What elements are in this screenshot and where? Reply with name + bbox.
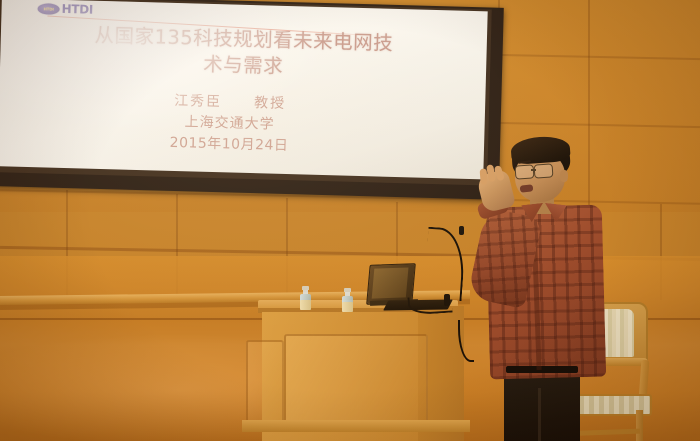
slide-subtitle-block: 江秀臣 教授 上海交通大学 2015年10月24日 — [14, 87, 446, 162]
presentation-photo: HTDI HTDI 从国家135科技规划看未来电网技 术与需求 江秀臣 教授 上… — [0, 0, 700, 441]
slide-content: HTDI HTDI 从国家135科技规划看未来电网技 术与需求 江秀臣 教授 上… — [0, 0, 488, 179]
eyeglasses-bridge — [531, 169, 536, 171]
presenter-mouth — [520, 184, 534, 192]
htdi-wordmark: HTDI — [61, 2, 93, 17]
presenter-leg-seam — [538, 388, 541, 441]
microphone-gooseneck — [424, 227, 467, 301]
presenter-ear — [560, 170, 568, 182]
presenter — [482, 138, 612, 441]
lectern-equipment — [258, 300, 468, 360]
projection-screen: HTDI HTDI 从国家135科技规划看未来电网技 术与需求 江秀臣 教授 上… — [0, 0, 510, 208]
htdi-oval-text: HTDI — [44, 6, 54, 11]
presenter-hair-fringe — [510, 135, 571, 165]
slide-title: 从国家135科技规划看未来电网技 术与需求 — [16, 21, 471, 85]
microphone-base — [444, 294, 450, 306]
htdi-logo: HTDI HTDI — [37, 1, 93, 16]
screen-surface: HTDI HTDI 从国家135科技规划看未来电网技 术与需求 江秀臣 教授 上… — [0, 0, 488, 179]
eyeglasses-right-lens-icon — [534, 163, 554, 178]
chair-front-leg — [636, 410, 643, 441]
screen-frame: HTDI HTDI 从国家135科技规划看未来电网技 术与需求 江秀臣 教授 上… — [0, 0, 504, 200]
laptop-screen — [372, 267, 409, 298]
presenter-waist — [506, 366, 578, 373]
microphone-head-icon — [459, 226, 464, 235]
presenter-trousers — [504, 370, 580, 441]
htdi-oval-icon: HTDI — [37, 3, 59, 15]
eyeglasses-left-lens-icon — [515, 164, 535, 179]
lectern-base — [242, 420, 470, 432]
microphone-cord — [458, 320, 474, 362]
